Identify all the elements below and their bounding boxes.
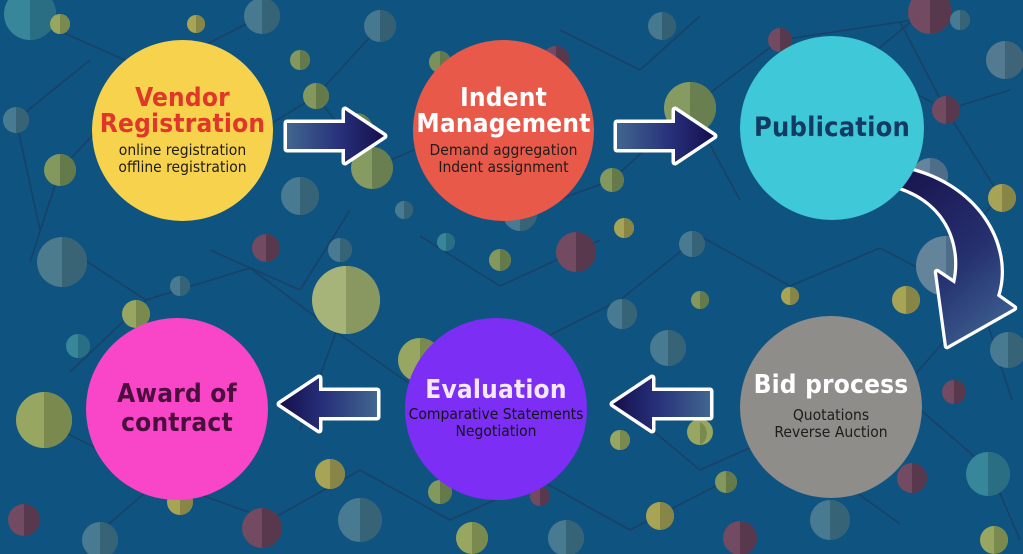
node-evaluation-subtitle: Comparative Statements Negotiation [409, 406, 584, 441]
node-vendor-registration[interactable]: Vendor Registration online registration … [92, 40, 273, 221]
node-bid-process[interactable]: Bid process Quotations Reverse Auction [740, 316, 922, 498]
node-bid-process-title: Bid process [754, 372, 909, 399]
arrow-bid-to-evaluation-icon [609, 373, 715, 435]
node-vendor-registration-title: Vendor Registration [100, 85, 265, 138]
node-indent-management-title: Indent Management [416, 85, 590, 138]
arrow-indent-to-publication-icon [613, 105, 719, 167]
node-vendor-registration-subtitle: online registration offline registration [118, 142, 246, 177]
node-award-of-contract[interactable]: Award of contract [86, 318, 268, 500]
arrow-publication-to-bid-curved-icon [885, 160, 1020, 365]
process-flow-diagram: Vendor Registration online registration … [0, 0, 1023, 554]
node-award-of-contract-title: Award of contract [117, 380, 237, 438]
arrow-vendor-to-indent-icon [283, 105, 389, 167]
node-evaluation-title: Evaluation [425, 377, 566, 404]
node-indent-management-subtitle: Demand aggregation Indent assignment [430, 142, 578, 177]
node-bid-process-subtitle: Quotations Reverse Auction [774, 407, 887, 442]
node-publication-title: Publication [754, 114, 910, 142]
arrow-evaluation-to-award-icon [276, 373, 382, 435]
node-publication[interactable]: Publication [740, 36, 924, 220]
node-evaluation[interactable]: Evaluation Comparative Statements Negoti… [405, 318, 587, 500]
node-indent-management[interactable]: Indent Management Demand aggregation Ind… [413, 40, 594, 221]
